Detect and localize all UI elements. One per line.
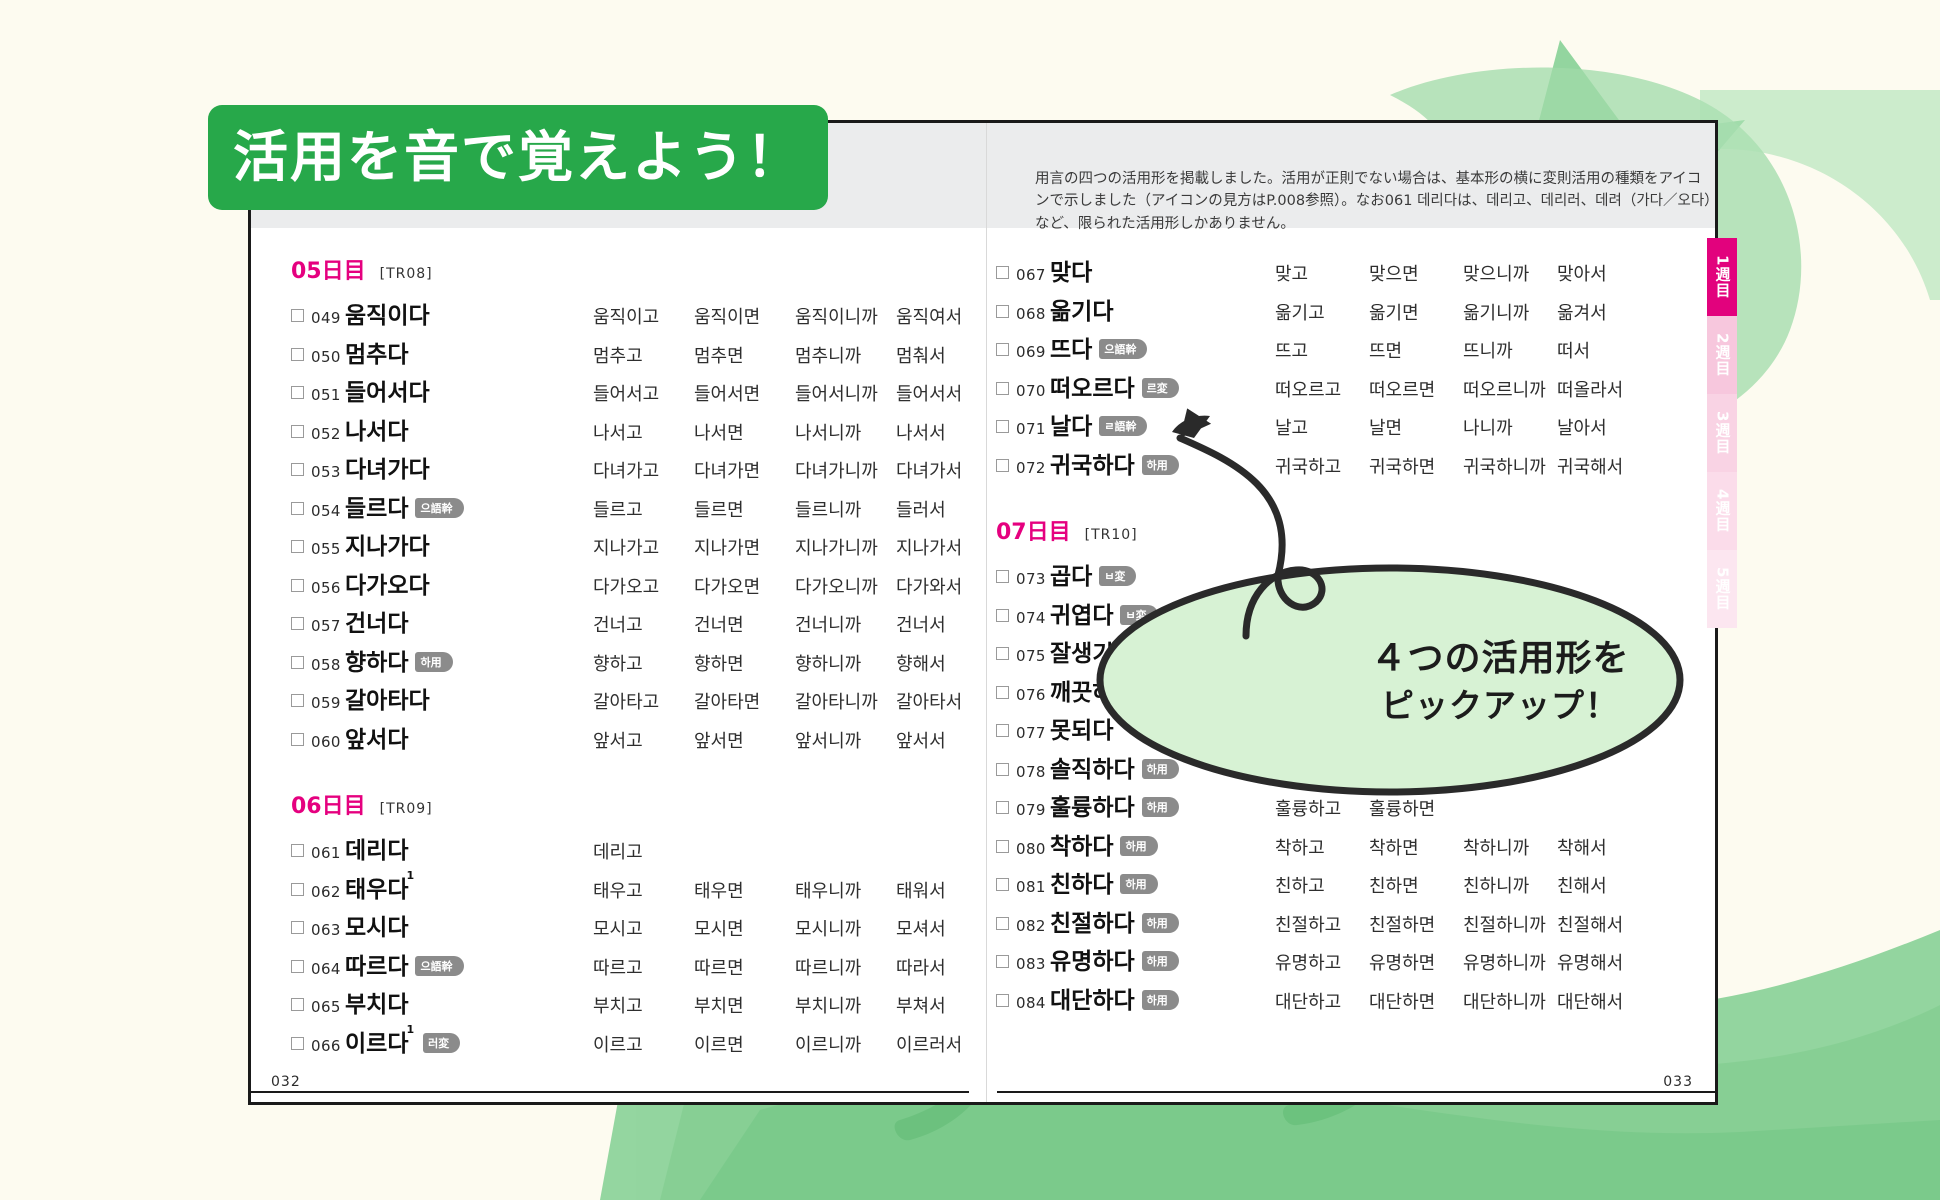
- base-form-text: 곱다: [1050, 557, 1092, 591]
- irregular-type-badge: 하用: [1120, 874, 1157, 894]
- verb-row[interactable]: 082친절하다하用친절하고친절하면친절하니까친절해서: [996, 904, 1676, 943]
- base-form-text: 앞서다: [345, 720, 408, 754]
- conjugation-form: 떠올라서: [1557, 376, 1651, 402]
- verb-row[interactable]: 061데리다데리고: [291, 831, 951, 870]
- base-form-text: 건너다: [345, 604, 408, 638]
- checkbox-icon[interactable]: [291, 309, 304, 322]
- entry-number: 083: [1016, 955, 1050, 973]
- checkbox-icon[interactable]: [996, 459, 1009, 472]
- conjugation-form: 유명하니까: [1463, 949, 1557, 975]
- conjugation-form: 친하고: [1275, 872, 1369, 898]
- checkbox-icon[interactable]: [291, 617, 304, 630]
- conjugation-forms: 나서고나서면나서니까나서서: [593, 419, 997, 445]
- entry-number: 049: [311, 309, 345, 327]
- verb-row[interactable]: 083유명하다하用유명하고유명하면유명하니까유명해서: [996, 942, 1676, 981]
- base-form-cell: 데리다: [345, 831, 593, 865]
- entry-number: 070: [1016, 382, 1050, 400]
- conjugation-form: 움직이면: [694, 303, 795, 329]
- verb-row[interactable]: 067맞다맞고맞으면맞으니까맞아서: [996, 253, 1676, 292]
- verb-row[interactable]: 081친하다하用친하고친하면친하니까친해서: [996, 865, 1676, 904]
- entry-number: 080: [1016, 840, 1050, 858]
- conjugation-form: 친절해서: [1557, 911, 1651, 937]
- base-form-cell: 갈아타다: [345, 681, 593, 715]
- checkbox-icon[interactable]: [996, 994, 1009, 1007]
- checkbox-icon[interactable]: [291, 921, 304, 934]
- conjugation-form: 들르고: [593, 496, 694, 522]
- verb-row[interactable]: 051들어서다들어서고들어서면들어서니까들어서서: [291, 373, 951, 412]
- entry-number: 073: [1016, 570, 1050, 588]
- conjugation-form: 유명하면: [1369, 949, 1463, 975]
- conjugation-forms: 갈아타고갈아타면갈아타니까갈아타서: [593, 688, 997, 714]
- checkbox-icon[interactable]: [291, 733, 304, 746]
- entry-number: 050: [311, 348, 345, 366]
- conjugation-form: 다가오면: [694, 573, 795, 599]
- section-title-banner: 活用を音で覚えよう！: [208, 105, 828, 210]
- verb-row[interactable]: 062태우다1태우고태우면태우니까태워서: [291, 870, 951, 909]
- checkbox-icon[interactable]: [996, 686, 1009, 699]
- conjugation-forms: 훌륭하고훌륭하면: [1275, 795, 1676, 821]
- conjugation-form: 나서고: [593, 419, 694, 445]
- base-form-text: 잘생기다: [1050, 634, 1135, 668]
- entry-number: 079: [1016, 801, 1050, 819]
- base-form-text: 대단하다: [1050, 981, 1135, 1015]
- week-tab-3[interactable]: 3週目: [1707, 394, 1737, 472]
- entry-number: 071: [1016, 420, 1050, 438]
- checkbox-icon[interactable]: [996, 955, 1009, 968]
- conjugation-form: 따르니까: [795, 954, 896, 980]
- checkbox-icon[interactable]: [996, 609, 1009, 622]
- conjugation-form: 맞아서: [1557, 260, 1651, 286]
- base-form-cell: 못되다: [1050, 711, 1275, 745]
- base-form-text: 들르다: [345, 489, 408, 523]
- section-gap: [291, 758, 951, 788]
- conjugation-forms: 맞고맞으면맞으니까맞아서: [1275, 260, 1676, 286]
- checkbox-icon[interactable]: [996, 647, 1009, 660]
- base-form-text: 이르다1: [345, 1024, 416, 1058]
- verb-row[interactable]: 059갈아타다갈아타고갈아타면갈아타니까갈아타서: [291, 681, 951, 720]
- conjugation-form: 태우면: [694, 877, 795, 903]
- entry-number: 067: [1016, 266, 1050, 284]
- conjugation-forms: 향하고향하면향하니까향해서: [593, 650, 997, 676]
- base-form-text: 옮기다: [1050, 292, 1113, 326]
- conjugation-form: [896, 838, 997, 864]
- conjugation-form: 솔: [1369, 757, 1463, 783]
- conjugation-form: 들르면: [694, 496, 795, 522]
- right-folio-rule: [997, 1091, 1715, 1093]
- conjugation-form: 움직이니까: [795, 303, 896, 329]
- base-form-cell: 앞서다: [345, 720, 593, 754]
- conjugation-form: 날아서: [1557, 414, 1651, 440]
- irregular-type-badge: ㄹ語幹: [1099, 416, 1147, 436]
- week-tab-4-label: 4週目: [1715, 489, 1730, 532]
- base-form-text: 날다: [1050, 407, 1092, 441]
- conjugation-form: 향해서: [896, 650, 997, 676]
- conjugation-form: 움직여서: [896, 303, 997, 329]
- conjugation-form: 맞으니까: [1463, 260, 1557, 286]
- conjugation-form: [1463, 795, 1557, 821]
- base-form-text: 뜨다: [1050, 330, 1092, 364]
- entry-number: 072: [1016, 459, 1050, 477]
- week-tab-4[interactable]: 4週目: [1707, 472, 1737, 550]
- conjugation-form: 갈아타니까: [795, 688, 896, 714]
- conjugation-form: 이르러서: [896, 1031, 997, 1057]
- base-form-cell: 지나가다: [345, 527, 593, 561]
- conjugation-form: 맞고: [1275, 260, 1369, 286]
- verb-row[interactable]: 084대단하다하用대단하고대단하면대단하니까대단해서: [996, 981, 1676, 1020]
- week-tab-5[interactable]: 5週目: [1707, 550, 1737, 628]
- conjugation-form: 들러서: [896, 496, 997, 522]
- conjugation-form: 맞으면: [1369, 260, 1463, 286]
- day-label: 05日目: [291, 253, 366, 285]
- conjugation-form: 귀국해서: [1557, 453, 1651, 479]
- conjugation-form: 향하고: [593, 650, 694, 676]
- conjugation-form: 갈아타서: [896, 688, 997, 714]
- conjugation-form: 귀국하니까: [1463, 453, 1557, 479]
- conjugation-form: 친절하면: [1369, 911, 1463, 937]
- day-label: 07日目: [996, 514, 1071, 546]
- base-form-cell: 태우다1: [345, 870, 593, 904]
- base-form-text: 멈추다: [345, 335, 408, 369]
- base-form-text: 귀국하다: [1050, 446, 1135, 480]
- checkbox-icon[interactable]: [996, 763, 1009, 776]
- checkbox-icon[interactable]: [996, 570, 1009, 583]
- conjugation-form: 지나가니까: [795, 534, 896, 560]
- conjugation-form: 향하니까: [795, 650, 896, 676]
- verb-row[interactable]: 057건너다건너고건너면건너니까건너서: [291, 604, 951, 643]
- conjugation-form: 친절하니까: [1463, 911, 1557, 937]
- base-form-cell: 들르다으語幹: [345, 489, 593, 523]
- conjugation-forms: 부치고부치면부치니까부쳐서: [593, 992, 997, 1018]
- base-form-cell: 모시다: [345, 908, 593, 942]
- entry-number: 064: [311, 960, 345, 978]
- verb-row[interactable]: 066이르다1러変이르고이르면이르니까이르러서: [291, 1024, 951, 1063]
- conjugation-form: 대단하면: [1369, 988, 1463, 1014]
- conjugation-form: 나서니까: [795, 419, 896, 445]
- homonym-superscript: 1: [406, 869, 414, 882]
- conjugation-form: 움직이고: [593, 303, 694, 329]
- conjugation-form: 들르니까: [795, 496, 896, 522]
- conjugation-form: 태워서: [896, 877, 997, 903]
- conjugation-form: 앞서니까: [795, 727, 896, 753]
- conjugation-forms: 멈추고멈추면멈추니까멈춰서: [593, 342, 997, 368]
- base-form-text: 훌륭하다: [1050, 788, 1135, 822]
- checkbox-icon[interactable]: [291, 1037, 304, 1050]
- entry-number: 062: [311, 883, 345, 901]
- conjugation-form: 따르면: [694, 954, 795, 980]
- conjugation-form: 착해서: [1557, 834, 1651, 860]
- conjugation-form: 부치면: [694, 992, 795, 1018]
- entry-number: 057: [311, 617, 345, 635]
- conjugation-form: 부치고: [593, 992, 694, 1018]
- base-form-cell: 들어서다: [345, 373, 593, 407]
- checkbox-icon[interactable]: [996, 724, 1009, 737]
- homonym-superscript: 1: [406, 1023, 414, 1036]
- conjugation-form: 나니까: [1463, 414, 1557, 440]
- checkbox-icon[interactable]: [996, 266, 1009, 279]
- conjugation-forms: 따르고따르면따르니까따라서: [593, 954, 997, 980]
- intro-note-text: 用言の四つの活用形を掲載しました。活用が正則でない場合は、基本形の横に変則活用の…: [1035, 168, 1715, 235]
- conjugation-form: 건너고: [593, 611, 694, 637]
- checkbox-icon[interactable]: [996, 420, 1009, 433]
- conjugation-form: 건너니까: [795, 611, 896, 637]
- verb-row[interactable]: 064따르다으語幹따르고따르면따르니까따라서: [291, 947, 951, 986]
- conjugation-form: 다녀가니까: [795, 457, 896, 483]
- conjugation-forms: 들르고들르면들르니까들러서: [593, 496, 997, 522]
- conjugation-form: 떠오르니까: [1463, 376, 1557, 402]
- checkbox-icon[interactable]: [996, 382, 1009, 395]
- checkbox-icon[interactable]: [996, 305, 1009, 318]
- entry-number: 051: [311, 386, 345, 404]
- conjugation-form: [1463, 564, 1557, 590]
- conjugation-forms: 다녀가고다녀가면다녀가니까다녀가서: [593, 457, 997, 483]
- conjugation-forms: 모시고모시면모시니까모셔서: [593, 915, 997, 941]
- week-tab-3-label: 3週目: [1715, 411, 1730, 454]
- conjugation-form: 뜨니까: [1463, 337, 1557, 363]
- conjugation-form: 앞서고: [593, 727, 694, 753]
- conjugation-form: 모셔서: [896, 915, 997, 941]
- left-folio-rule: [251, 1091, 969, 1093]
- base-form-text: 움직이다: [345, 296, 430, 330]
- checkbox-icon[interactable]: [291, 502, 304, 515]
- audio-track-label: [TR09]: [380, 801, 433, 817]
- verb-row[interactable]: 054들르다으語幹들르고들르면들르니까들러서: [291, 489, 951, 528]
- checkbox-icon[interactable]: [291, 844, 304, 857]
- base-form-text: 태우다1: [345, 870, 416, 904]
- conjugation-forms: 대단하고대단하면대단하니까대단해서: [1275, 988, 1676, 1014]
- conjugation-forms: 지나가고지나가면지나가니까지나가서: [593, 534, 997, 560]
- conjugation-form: [1557, 564, 1651, 590]
- verb-row[interactable]: 052나서다나서고나서면나서니까나서서: [291, 412, 951, 451]
- checkbox-icon[interactable]: [291, 998, 304, 1011]
- entry-number: 063: [311, 921, 345, 939]
- conjugation-form: 나서면: [694, 419, 795, 445]
- conjugation-form: 나서서: [896, 419, 997, 445]
- conjugation-form: [1557, 757, 1651, 783]
- conjugation-form: 옮기니까: [1463, 299, 1557, 325]
- conjugation-form: 태우고: [593, 877, 694, 903]
- irregular-type-badge: 하用: [1142, 759, 1179, 779]
- verb-row[interactable]: 065부치다부치고부치면부치니까부쳐서: [291, 985, 951, 1024]
- conjugation-form: 들어서서: [896, 380, 997, 406]
- callout-line-2: ピックアップ！: [1300, 684, 1700, 729]
- entry-number: 082: [1016, 917, 1050, 935]
- conjugation-forms: 유명하고유명하면유명하니까유명해서: [1275, 949, 1676, 975]
- conjugation-form: 건너서: [896, 611, 997, 637]
- conjugation-form: 멈추고: [593, 342, 694, 368]
- checkbox-icon[interactable]: [291, 694, 304, 707]
- checkbox-icon[interactable]: [996, 343, 1009, 356]
- entry-number: 069: [1016, 343, 1050, 361]
- base-form-text: 깨끗하다: [1050, 673, 1135, 707]
- checkbox-icon[interactable]: [291, 579, 304, 592]
- section-gap: [291, 1062, 951, 1092]
- book-page-spread: 1週目 2週目 3週目 4週目 5週目 05日目[TR08]049움직이다움직이…: [248, 120, 1718, 1105]
- conjugation-form: 떠서: [1557, 337, 1651, 363]
- conjugation-form: 따라서: [896, 954, 997, 980]
- checkbox-icon[interactable]: [291, 960, 304, 973]
- conjugation-forms: 건너고건너면건너니까건너서: [593, 611, 997, 637]
- conjugation-form: 이르면: [694, 1031, 795, 1057]
- verb-row[interactable]: 058향하다하用향하고향하면향하니까향해서: [291, 643, 951, 682]
- verb-row[interactable]: 056다가오다다가오고다가오면다가오니까다가와서: [291, 566, 951, 605]
- irregular-type-badge: 으語幹: [1099, 339, 1147, 359]
- entry-number: 077: [1016, 724, 1050, 742]
- verb-row[interactable]: 055지나가다지나가고지나가면지나가니까지나가서: [291, 527, 951, 566]
- conjugation-form: 다가와서: [896, 573, 997, 599]
- base-form-cell: 향하다하用: [345, 643, 593, 677]
- conjugation-form: 다녀가서: [896, 457, 997, 483]
- verb-row[interactable]: 079훌륭하다하用훌륭하고훌륭하면: [996, 788, 1676, 827]
- irregular-type-badge: 하用: [1142, 913, 1179, 933]
- checkbox-icon[interactable]: [291, 348, 304, 361]
- base-form-text: 유명하다: [1050, 942, 1135, 976]
- conjugation-form: 솔직하고: [1275, 757, 1369, 783]
- week-tab-2-label: 2週目: [1715, 333, 1730, 376]
- base-form-text: 친하다: [1050, 865, 1113, 899]
- base-form-cell: 친절하다하用: [1050, 904, 1275, 938]
- base-form-text: 떠오르다: [1050, 369, 1135, 403]
- left-page-column: 05日目[TR08]049움직이다움직이고움직이면움직이니까움직여서050멈추다…: [291, 123, 951, 1092]
- checkbox-icon[interactable]: [291, 386, 304, 399]
- conjugation-form: 이르고: [593, 1031, 694, 1057]
- conjugation-form: 옮겨서: [1557, 299, 1651, 325]
- conjugation-form: 대단하고: [1275, 988, 1369, 1014]
- base-form-text: 데리다: [345, 831, 408, 865]
- conjugation-form: 지나가면: [694, 534, 795, 560]
- conjugation-forms: 착하고착하면착하니까착해서: [1275, 834, 1676, 860]
- base-form-text: 다녀가다: [345, 450, 430, 484]
- conjugation-form: 지나가고: [593, 534, 694, 560]
- section-title-text: 活用を音で覚えよう！: [233, 130, 803, 185]
- conjugation-forms: 들어서고들어서면들어서니까들어서서: [593, 380, 997, 406]
- conjugation-form: 갈아타면: [694, 688, 795, 714]
- irregular-type-badge: 으語幹: [415, 956, 463, 976]
- checkbox-icon[interactable]: [996, 878, 1009, 891]
- conjugation-form: [1557, 795, 1651, 821]
- conjugation-form: 유명해서: [1557, 949, 1651, 975]
- conjugation-form: 다가오니까: [795, 573, 896, 599]
- week-tab-1[interactable]: 1週目: [1707, 238, 1737, 316]
- entry-number: 059: [311, 694, 345, 712]
- conjugation-form: 따르고: [593, 954, 694, 980]
- entry-number: 084: [1016, 994, 1050, 1012]
- entry-number: 074: [1016, 609, 1050, 627]
- checkbox-icon[interactable]: [996, 801, 1009, 814]
- audio-track-label: [TR08]: [380, 266, 433, 282]
- base-form-text: 못되다: [1050, 711, 1113, 745]
- verb-row[interactable]: 078솔직하다하用솔직하고솔: [996, 750, 1676, 789]
- entry-number: 054: [311, 502, 345, 520]
- checkbox-icon[interactable]: [291, 463, 304, 476]
- conjugation-form: 다녀가면: [694, 457, 795, 483]
- irregular-type-badge: 하用: [1142, 797, 1179, 817]
- verb-row[interactable]: 063모시다모시고모시면모시니까모셔서: [291, 908, 951, 947]
- verb-row[interactable]: 053다녀가다다녀가고다녀가면다녀가니까다녀가서: [291, 450, 951, 489]
- conjugation-form: 유명하고: [1275, 949, 1369, 975]
- entry-number: 058: [311, 656, 345, 674]
- callout-line-1: ４つの活用形を: [1300, 635, 1700, 684]
- conjugation-form: 앞서면: [694, 727, 795, 753]
- conjugation-form: 모시고: [593, 915, 694, 941]
- conjugation-form: 멈추면: [694, 342, 795, 368]
- checkbox-icon[interactable]: [291, 883, 304, 896]
- base-form-text: 착하다: [1050, 827, 1113, 861]
- entry-number: 055: [311, 540, 345, 558]
- verb-row[interactable]: 060앞서다앞서고앞서면앞서니까앞서서: [291, 720, 951, 759]
- irregular-type-badge: 하用: [1142, 990, 1179, 1010]
- base-form-cell: 건너다: [345, 604, 593, 638]
- conjugation-form: 대단해서: [1557, 988, 1651, 1014]
- irregular-type-badge: 으語幹: [415, 498, 463, 518]
- checkbox-icon[interactable]: [291, 540, 304, 553]
- verb-row[interactable]: 080착하다하用착하고착하면착하니까착해서: [996, 827, 1676, 866]
- conjugation-forms: 친절하고친절하면친절하니까친절해서: [1275, 911, 1676, 937]
- irregular-type-badge: 하用: [415, 652, 452, 672]
- verb-row[interactable]: 049움직이다움직이고움직이면움직이니까움직여서: [291, 296, 951, 335]
- conjugation-form: 들어서고: [593, 380, 694, 406]
- checkbox-icon[interactable]: [291, 656, 304, 669]
- conjugation-forms: 앞서고앞서면앞서니까앞서서: [593, 727, 997, 753]
- entry-number: 053: [311, 463, 345, 481]
- conjugation-form: [1463, 757, 1557, 783]
- base-form-text: 친절하다: [1050, 904, 1135, 938]
- conjugation-form: 다가오고: [593, 573, 694, 599]
- entry-number: 068: [1016, 305, 1050, 323]
- week-tab-strip[interactable]: 1週目 2週目 3週目 4週目 5週目: [1707, 238, 1737, 628]
- base-form-cell: 따르다으語幹: [345, 947, 593, 981]
- verb-row[interactable]: 050멈추다멈추고멈추면멈추니까멈춰서: [291, 335, 951, 374]
- base-form-cell: 솔직하다하用: [1050, 750, 1275, 784]
- conjugation-form: [1557, 603, 1651, 629]
- base-form-cell: 유명하다하用: [1050, 942, 1275, 976]
- entry-number: 075: [1016, 647, 1050, 665]
- conjugation-form: 이르니까: [795, 1031, 896, 1057]
- checkbox-icon[interactable]: [996, 917, 1009, 930]
- conjugation-form: 멈추니까: [795, 342, 896, 368]
- conjugation-forms: 태우고태우면태우니까태워서: [593, 877, 997, 903]
- irregular-type-badge: 하用: [1120, 836, 1157, 856]
- base-form-text: 갈아타다: [345, 681, 430, 715]
- conjugation-form: 갈아타고: [593, 688, 694, 714]
- conjugation-form: 대단하니까: [1463, 988, 1557, 1014]
- conjugation-form: 착하면: [1369, 834, 1463, 860]
- conjugation-form: 착하니까: [1463, 834, 1557, 860]
- checkbox-icon[interactable]: [291, 425, 304, 438]
- day-heading: 06日目[TR09]: [291, 788, 951, 820]
- conjugation-form: 다녀가고: [593, 457, 694, 483]
- base-form-text: 맞다: [1050, 253, 1092, 287]
- conjugation-form: 친해서: [1557, 872, 1651, 898]
- base-form-cell: 멈추다: [345, 335, 593, 369]
- conjugation-form: [694, 838, 795, 864]
- entry-number: 078: [1016, 763, 1050, 781]
- entry-number: 081: [1016, 878, 1050, 896]
- base-form-cell: 친하다하用: [1050, 865, 1275, 899]
- conjugation-form: 훌륭하고: [1275, 795, 1369, 821]
- week-tab-2[interactable]: 2週目: [1707, 316, 1737, 394]
- checkbox-icon[interactable]: [996, 840, 1009, 853]
- conjugation-form: 친하니까: [1463, 872, 1557, 898]
- irregular-type-badge: ㅂ変: [1099, 566, 1136, 586]
- entry-number: 052: [311, 425, 345, 443]
- conjugation-forms: 데리고: [593, 838, 997, 864]
- conjugation-form: 부쳐서: [896, 992, 997, 1018]
- conjugation-form: 향하면: [694, 650, 795, 676]
- base-form-text: 지나가다: [345, 527, 430, 561]
- base-form-cell: 다가오다: [345, 566, 593, 600]
- conjugation-form: 앞서서: [896, 727, 997, 753]
- conjugation-form: 부치니까: [795, 992, 896, 1018]
